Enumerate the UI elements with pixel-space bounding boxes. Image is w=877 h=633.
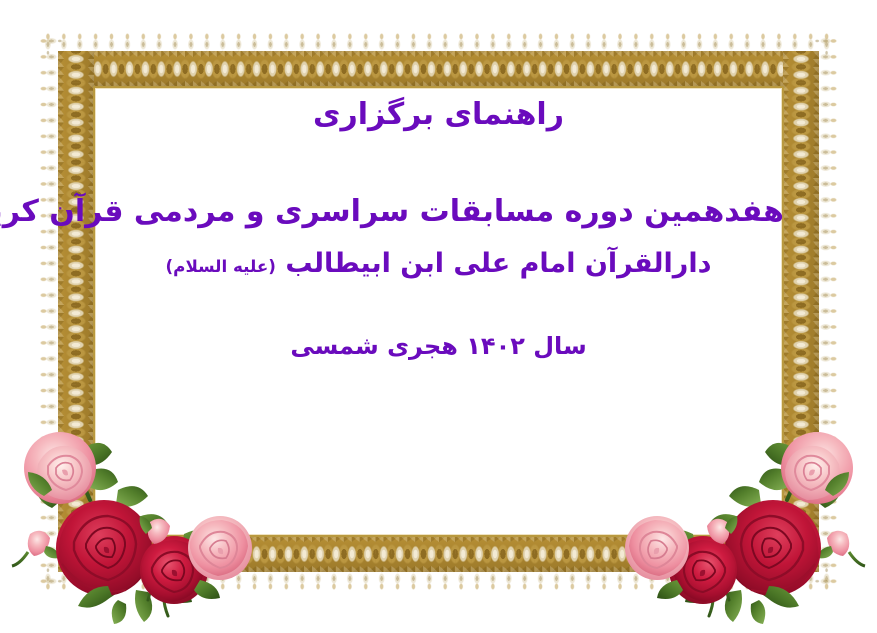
text-content: راهنمای برگزاری هفدهمین دوره مسابقات سرا… bbox=[93, 85, 784, 363]
organization-line: دارالقرآن امام علی ابن ابیطالب (علیه الس… bbox=[93, 246, 784, 282]
year-label: سال ۱۴۰۲ هجری شمسی bbox=[93, 330, 784, 362]
organization-name: دارالقرآن امام علی ابن ابیطالب bbox=[285, 248, 711, 279]
page-title: راهنمای برگزاری bbox=[93, 95, 784, 136]
damask-band-right bbox=[783, 51, 819, 572]
event-name: هفدهمین دوره مسابقات سراسری و مردمی قرآن… bbox=[93, 192, 784, 233]
organization-honorific: (علیه السلام) bbox=[166, 256, 276, 276]
damask-band-left bbox=[58, 51, 94, 572]
damask-band-bottom bbox=[58, 536, 819, 572]
announcement-page: راهنمای برگزاری هفدهمین دوره مسابقات سرا… bbox=[0, 0, 877, 633]
damask-band-top bbox=[58, 51, 819, 87]
